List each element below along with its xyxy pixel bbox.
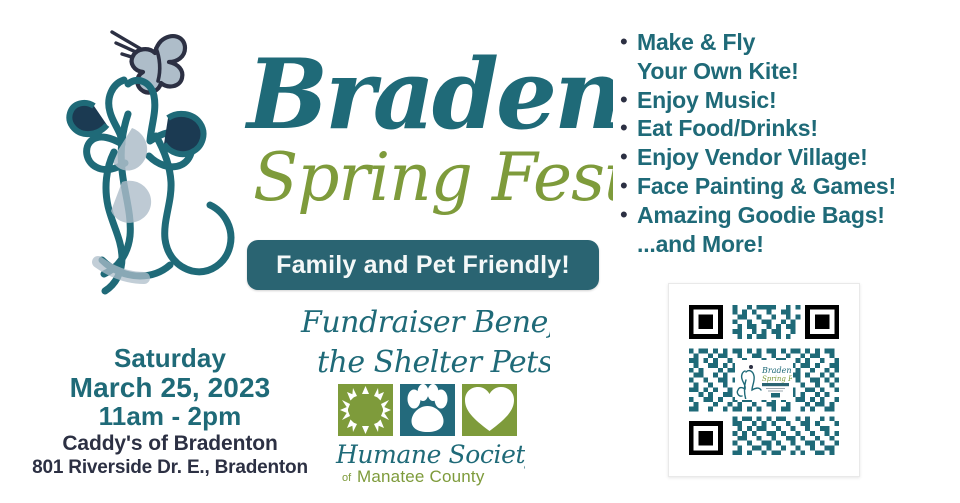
fundraiser-line-2: the Shelter Pets of [317,345,550,380]
mini-logo-line-1: Bradenton [761,366,792,375]
list-item-label: Enjoy Music! [637,88,776,113]
family-pet-friendly-banner: Family and Pet Friendly! [247,240,599,290]
qr-code-panel[interactable]: Bradenton Spring Festival [668,283,860,477]
banner-label: Family and Pet Friendly! [276,251,570,280]
list-item-label: Your Own Kite! [637,59,799,84]
humane-society-logo: Humane Society of Manatee County [330,384,525,494]
list-item-label: Eat Food/Drinks! [637,116,818,141]
event-venue: Caddy's of Bradenton [20,431,320,457]
bullet-icon: • [620,30,630,53]
mini-dog-icon [737,365,761,399]
list-item: • Enjoy Vendor Village! [620,145,950,170]
bullet-icon: • [620,174,630,197]
list-item: Your Own Kite! [620,59,950,84]
heart-icon [462,384,517,436]
list-item-label: Amazing Goodie Bags! [637,203,885,228]
list-item-label: Make & Fly [637,30,755,55]
title-line-1: Bradenton [244,38,613,151]
event-address: 801 Riverside Dr. E., Bradenton [20,456,320,479]
humane-society-subtitle-prefix: of [342,472,352,484]
humane-society-icon-row [330,384,525,436]
dog-figure [69,80,231,291]
event-day: Saturday [20,345,320,373]
list-item-label: ...and More! [637,232,764,257]
mini-logo-line-2: Spring Festival [762,375,792,383]
event-details: Saturday March 25, 2023 11am - 2pm Caddy… [20,345,320,480]
feature-list: • Make & Fly Your Own Kite! • Enjoy Musi… [620,30,950,261]
event-date: March 25, 2023 [20,373,320,403]
fundraiser-text: Fundraiser Benefitting the Shelter Pets … [295,296,550,384]
list-item-label: Enjoy Vendor Village! [637,145,868,170]
list-item: • Face Painting & Games! [620,174,950,199]
spring-festival-flyer: Bradenton Spring Festival Family and Pet… [0,0,960,503]
bullet-icon: • [620,116,630,139]
bullet-icon: • [620,88,630,111]
list-item: • Amazing Goodie Bags! [620,203,950,228]
humane-society-wordmark: Humane Society of Manatee County [330,438,525,486]
humane-society-subtitle: Manatee County [357,467,485,486]
list-item: • Eat Food/Drinks! [620,116,950,141]
bullet-icon: • [620,203,630,226]
list-item: • Make & Fly [620,30,950,55]
sun-icon [338,384,393,436]
humane-society-name: Humane Society [335,440,525,469]
event-time: 11am - 2pm [20,402,320,431]
list-item: • Enjoy Music! [620,88,950,113]
bullet-icon: • [620,145,630,168]
qr-center-logo: Bradenton Spring Festival [735,360,793,400]
paw-icon [400,384,455,436]
fundraiser-line-1: Fundraiser Benefitting [300,305,550,340]
dog-and-butterfly-logo [28,10,243,310]
festival-title: Bradenton Spring Festival [243,18,613,233]
list-item: ...and More! [620,232,950,257]
title-line-2: Spring Festival [253,139,613,216]
qr-code[interactable]: Bradenton Spring Festival [684,299,844,461]
list-item-label: Face Painting & Games! [637,174,896,199]
